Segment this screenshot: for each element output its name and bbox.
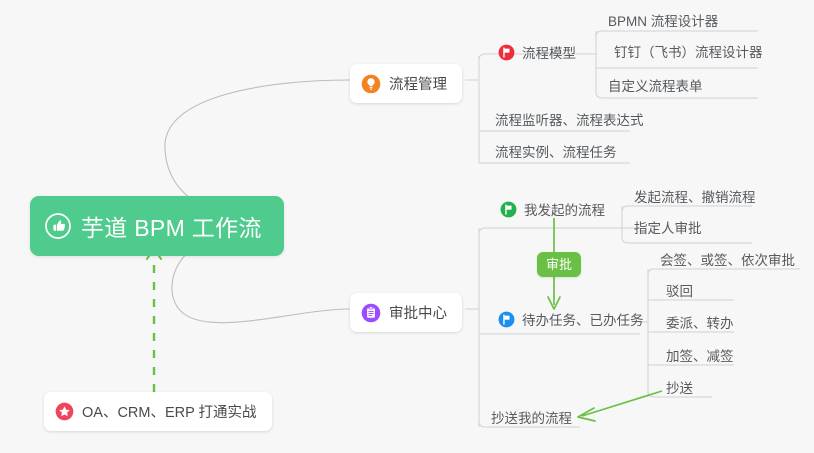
root-label: 芋道 BPM 工作流 (81, 209, 262, 243)
node-bpmn-designer-label: BPMN 流程设计器 (608, 10, 718, 30)
node-my-initiated[interactable]: 我发起的流程 (494, 199, 611, 225)
branch-approval-center-label: 审批中心 (389, 302, 447, 323)
wire-ac-to-initiated (479, 228, 640, 234)
node-delegate-transfer-label: 委派、转办 (666, 312, 734, 332)
node-add-remove-sign-label: 加签、减签 (666, 345, 734, 365)
node-countersign-label: 会签、或签、依次审批 (660, 249, 795, 269)
node-custom-form-label: 自定义流程表单 (608, 75, 703, 95)
red-flag-icon (498, 44, 515, 61)
root-node[interactable]: 芋道 BPM 工作流 (30, 196, 284, 256)
node-launch-cancel-label: 发起流程、撤销流程 (634, 186, 756, 206)
node-assignee-approval-label: 指定人审批 (634, 217, 702, 237)
node-cc-label: 抄送 (666, 377, 693, 397)
node-cc-to-me[interactable]: 抄送我的流程 (485, 407, 578, 433)
node-custom-form[interactable]: 自定义流程表单 (602, 75, 709, 101)
integration-annotation-label: OA、CRM、ERP 打通实战 (82, 401, 257, 422)
mindmap-canvas: 芋道 BPM 工作流 OA、CRM、ERP 打通实战 流程管理 (0, 0, 814, 453)
green-flag-icon (500, 201, 517, 218)
node-reject[interactable]: 驳回 (660, 280, 699, 306)
branch-process-management-label: 流程管理 (389, 73, 447, 94)
red-star-icon (55, 402, 74, 421)
orange-lightbulb-icon (361, 74, 381, 94)
node-cc-to-me-label: 抄送我的流程 (491, 407, 572, 427)
node-dingtalk-designer[interactable]: 钉钉（飞书）流程设计器 (608, 41, 769, 67)
node-process-instance-label: 流程实例、流程任务 (495, 141, 617, 161)
node-process-listener[interactable]: 流程监听器、流程表达式 (489, 109, 650, 135)
node-countersign[interactable]: 会签、或签、依次审批 (654, 249, 801, 275)
thumbs-up-icon (45, 213, 71, 239)
branch-approval-center[interactable]: 审批中心 (350, 293, 462, 332)
node-launch-cancel[interactable]: 发起流程、撤销流程 (628, 186, 762, 212)
node-process-listener-label: 流程监听器、流程表达式 (495, 109, 644, 129)
branch-process-management[interactable]: 流程管理 (350, 64, 462, 103)
node-cc[interactable]: 抄送 (660, 377, 699, 403)
node-my-initiated-label: 我发起的流程 (524, 199, 605, 219)
node-add-remove-sign[interactable]: 加签、减签 (660, 345, 740, 371)
blue-flag-icon (498, 311, 515, 328)
integration-annotation-node[interactable]: OA、CRM、ERP 打通实战 (44, 392, 272, 431)
node-process-instance[interactable]: 流程实例、流程任务 (489, 141, 623, 167)
purple-clipboard-icon (361, 303, 381, 323)
approval-badge: 审批 (537, 252, 581, 277)
node-dingtalk-designer-label: 钉钉（飞书）流程设计器 (614, 41, 763, 61)
node-process-model-label: 流程模型 (522, 42, 576, 62)
node-todo-done-tasks-label: 待办任务、已办任务 (522, 309, 644, 329)
node-delegate-transfer[interactable]: 委派、转办 (660, 312, 740, 338)
arrow-approve-head (548, 297, 560, 309)
arrow-cc-line (582, 391, 662, 416)
arrow-cc-head (578, 408, 595, 421)
node-process-model[interactable]: 流程模型 (492, 42, 582, 68)
node-todo-done-tasks[interactable]: 待办任务、已办任务 (492, 309, 650, 335)
node-bpmn-designer[interactable]: BPMN 流程设计器 (602, 10, 724, 36)
node-reject-label: 驳回 (666, 280, 693, 300)
node-assignee-approval[interactable]: 指定人审批 (628, 217, 708, 243)
